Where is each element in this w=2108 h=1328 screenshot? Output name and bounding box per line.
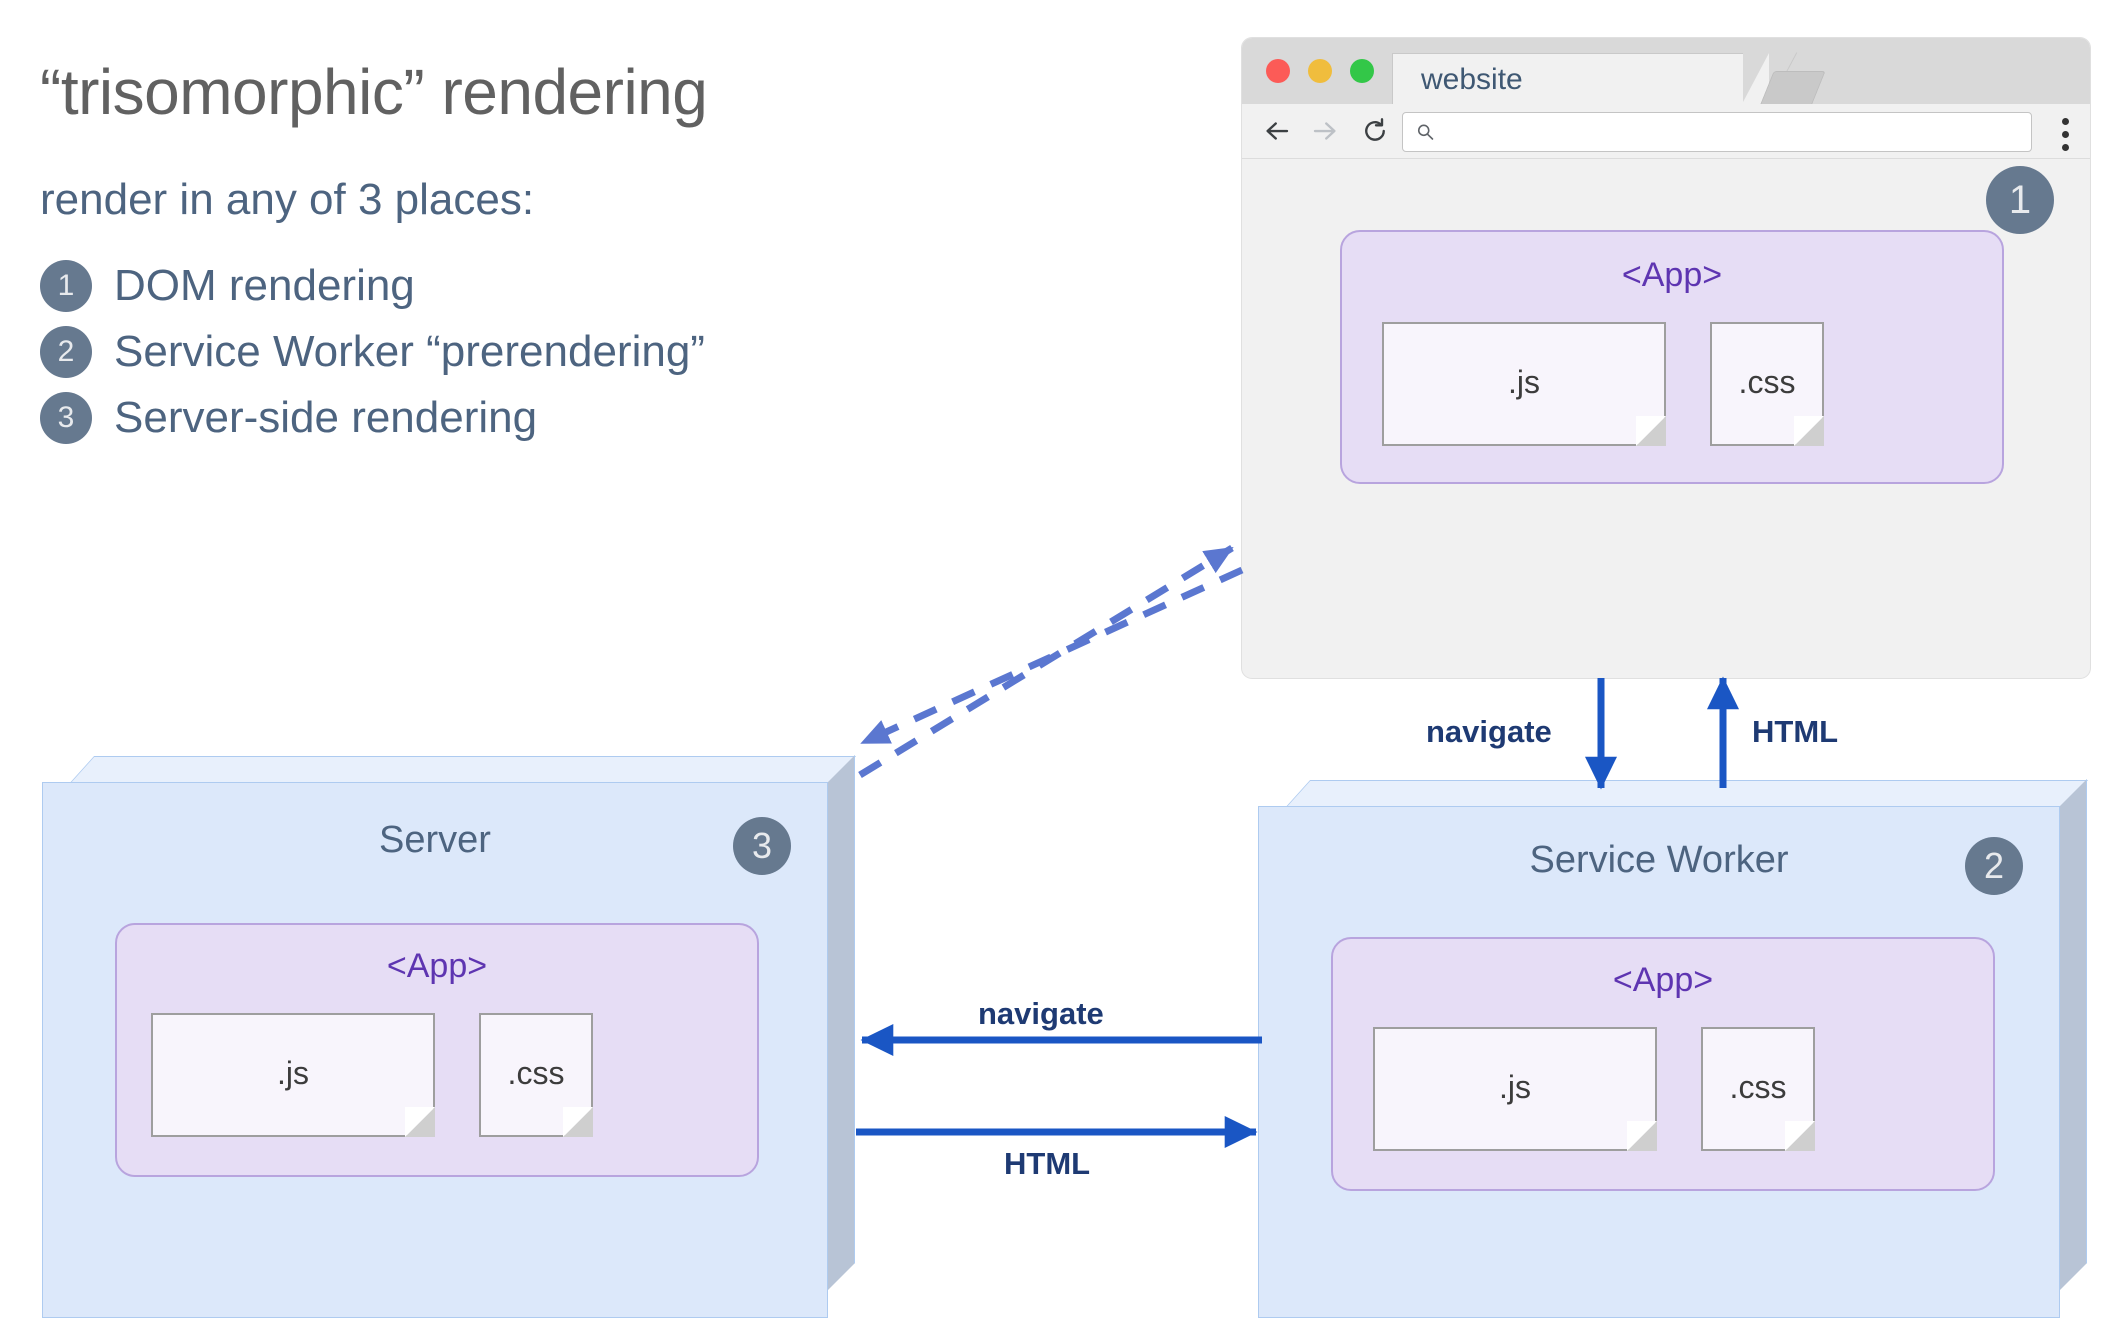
address-bar[interactable]: [1402, 112, 2032, 152]
server-block-side-face: [828, 755, 855, 1290]
window-controls: [1266, 59, 1374, 83]
browser-titlebar: website: [1242, 38, 2090, 104]
sw-block-top-face: [1284, 780, 2088, 809]
browser-css-file: .css: [1710, 322, 1824, 446]
server-js-file: .js: [151, 1013, 435, 1137]
browser-app-label: <App>: [1342, 256, 2002, 295]
label-html-server-to-sw: HTML: [1004, 1146, 1090, 1182]
arrow-browser-to-server-dashed: [862, 570, 1242, 743]
search-icon: [1415, 122, 1435, 142]
browser-step-badge: 1: [1986, 166, 2054, 234]
minimize-window-button[interactable]: [1308, 59, 1332, 83]
list-badge-2: 2: [40, 326, 92, 378]
subtitle: render in any of 3 places:: [40, 178, 1040, 222]
server-css-file-label: .css: [481, 1055, 591, 1092]
browser-tab-website[interactable]: website: [1392, 53, 1743, 104]
arrow-server-to-browser-dashed: [860, 548, 1232, 775]
reload-icon[interactable]: [1360, 116, 1390, 146]
page-title: “trisomorphic” rendering: [40, 60, 1040, 124]
browser-tab-label: website: [1421, 63, 1523, 97]
maximize-window-button[interactable]: [1350, 59, 1374, 83]
server-title: Server: [43, 819, 827, 862]
sw-app-label: <App>: [1333, 961, 1993, 1000]
new-tab-button[interactable]: [1760, 71, 1825, 104]
sw-block-front-face: Service Worker 2 <App> .js .css: [1258, 806, 2060, 1318]
server-step-badge: 3: [733, 817, 791, 875]
server-block-top-face: [68, 756, 856, 785]
close-window-button[interactable]: [1266, 59, 1290, 83]
browser-js-file-label: .js: [1384, 364, 1664, 401]
label-navigate-browser-to-sw: navigate: [1426, 714, 1552, 750]
sw-css-file-label: .css: [1703, 1069, 1813, 1106]
list-item: 2 Service Worker “prerendering”: [40, 326, 1040, 378]
sw-js-file-label: .js: [1375, 1069, 1655, 1106]
list-label-service-worker-prerendering: Service Worker “prerendering”: [114, 330, 705, 374]
sw-js-file: .js: [1373, 1027, 1657, 1151]
browser-js-file: .js: [1382, 322, 1666, 446]
back-arrow-icon[interactable]: [1262, 116, 1292, 146]
service-worker-block: Service Worker 2 <App> .js .css: [1258, 780, 2088, 1318]
server-block: Server 3 <App> .js .css: [42, 756, 862, 1318]
server-js-file-label: .js: [153, 1055, 433, 1092]
list-item: 3 Server-side rendering: [40, 392, 1040, 444]
sw-block-side-face: [2060, 779, 2087, 1290]
three-dot-menu-icon[interactable]: [2062, 118, 2070, 157]
browser-css-file-label: .css: [1712, 364, 1822, 401]
server-app-box: <App> .js .css: [115, 923, 759, 1177]
list-badge-1: 1: [40, 260, 92, 312]
label-html-sw-to-browser: HTML: [1752, 714, 1838, 750]
list-item: 1 DOM rendering: [40, 260, 1040, 312]
sw-css-file: .css: [1701, 1027, 1815, 1151]
list-label-server-side-rendering: Server-side rendering: [114, 396, 537, 440]
list-badge-3: 3: [40, 392, 92, 444]
server-app-label: <App>: [117, 947, 757, 986]
label-navigate-sw-to-server: navigate: [978, 996, 1104, 1032]
server-css-file: .css: [479, 1013, 593, 1137]
sw-app-box: <App> .js .css: [1331, 937, 1995, 1191]
server-block-front-face: Server 3 <App> .js .css: [42, 782, 828, 1318]
slide-text-column: “trisomorphic” rendering render in any o…: [40, 60, 1040, 458]
forward-arrow-icon: [1310, 116, 1340, 146]
list-label-dom-rendering: DOM rendering: [114, 264, 415, 308]
browser-toolbar: [1242, 104, 2090, 159]
service-worker-title: Service Worker: [1259, 839, 2059, 882]
browser-app-box: <App> .js .css: [1340, 230, 2004, 484]
service-worker-step-badge: 2: [1965, 837, 2023, 895]
browser-window: website 1 <App> .js: [1242, 38, 2090, 678]
